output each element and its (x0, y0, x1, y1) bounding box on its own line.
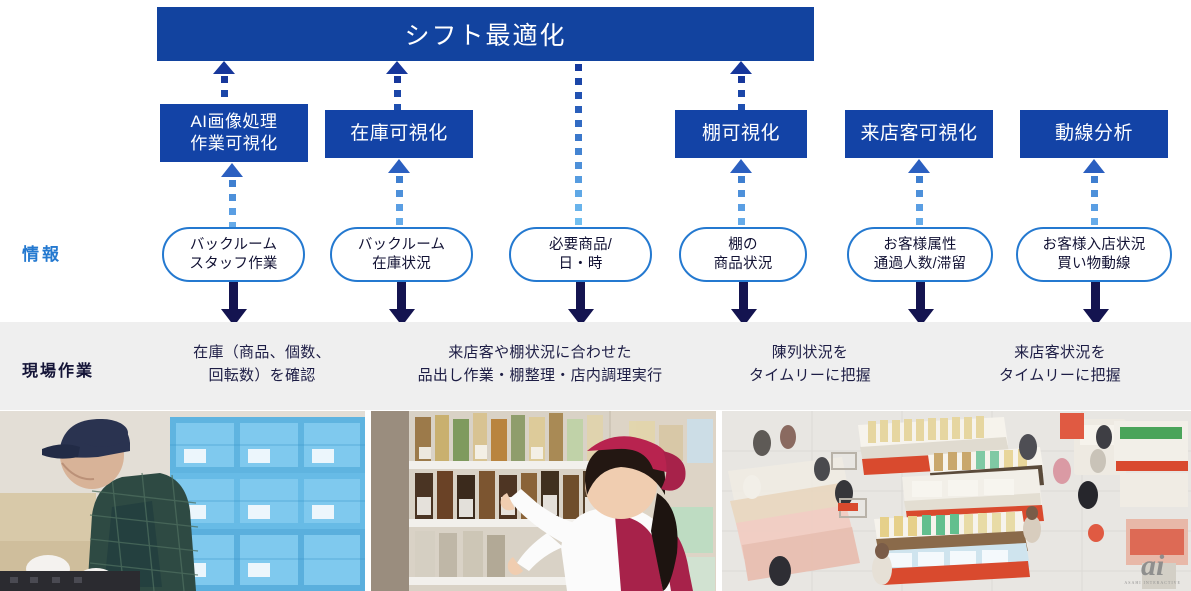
work-line1: 陳列状況を (772, 344, 849, 361)
photo-clerk-stocking (371, 411, 716, 591)
info-line2: 通過人数/滞留 (874, 256, 966, 272)
field-work-text-display-status: 陳列状況を タイムリーに把握 (710, 342, 910, 387)
photo-supermarket-overhead-graphic (722, 411, 1191, 591)
diagram-canvas: シフト最適化 AI画像処理 作業可視化 在庫可視化 棚可視化 来店客可視化 (0, 0, 1191, 591)
capability-label: AI画像処理 作業可視化 (190, 111, 278, 155)
work-line2: タイムリーに把握 (999, 367, 1121, 384)
info-line1: バックルーム (190, 237, 277, 253)
info-oval-required-products-day-time[interactable]: 必要商品/ 日・時 (509, 227, 652, 282)
info-line2: 日・時 (558, 256, 602, 272)
photo-supermarket-overhead: ai ASAHI INTERACTIVE (722, 411, 1191, 591)
capability-line2: 作業可視化 (190, 134, 278, 153)
title-text: シフト最適化 (404, 16, 566, 52)
info-line1: お客様入店状況 (1043, 237, 1146, 253)
capability-box-flowline-analysis[interactable]: 動線分析 (1020, 110, 1168, 158)
info-line1: バックルーム (358, 237, 445, 253)
watermark-sub: ASAHI INTERACTIVE (1124, 581, 1181, 585)
info-line2: スタッフ作業 (189, 256, 277, 272)
capability-label: 来店客可視化 (860, 122, 977, 146)
info-oval-label: バックルーム 在庫状況 (358, 236, 445, 272)
photo-backroom-staff (0, 411, 365, 591)
info-oval-label: お客様属性 通過人数/滞留 (874, 236, 966, 272)
photo-backroom-staff-graphic (0, 411, 365, 591)
work-line1: 来店客状況を (1014, 344, 1106, 361)
info-oval-customer-attributes[interactable]: お客様属性 通過人数/滞留 (847, 227, 993, 282)
work-line2: 回転数）を確認 (208, 367, 315, 384)
capability-label: 棚可視化 (702, 122, 780, 146)
capability-line1: AI画像処理 (190, 112, 277, 131)
field-work-text-restocking: 来店客や棚状況に合わせた 品出し作業・棚整理・店内調理実行 (374, 342, 706, 387)
capability-box-ai-image-processing[interactable]: AI画像処理 作業可視化 (160, 104, 308, 162)
row-label-field-work: 現場作業 (22, 357, 142, 381)
info-oval-label: 棚の 商品状況 (714, 236, 773, 272)
info-oval-label: 必要商品/ 日・時 (549, 236, 612, 272)
info-oval-shelf-product-status[interactable]: 棚の 商品状況 (679, 227, 807, 282)
info-oval-label: お客様入店状況 買い物動線 (1043, 236, 1146, 272)
field-work-text-customer-status: 来店客状況を タイムリーに把握 (960, 342, 1160, 387)
watermark-logo: ai ASAHI INTERACTIVE (1124, 551, 1181, 585)
info-line1: 棚の (728, 237, 757, 253)
capability-box-inventory-visualization[interactable]: 在庫可視化 (325, 110, 473, 158)
work-line1: 来店客や棚状況に合わせた (448, 344, 632, 361)
info-oval-backroom-staff-work[interactable]: バックルーム スタッフ作業 (162, 227, 305, 282)
info-oval-label: バックルーム スタッフ作業 (189, 236, 277, 272)
row-label-information: 情報 (22, 240, 132, 265)
info-line2: 商品状況 (714, 256, 773, 272)
info-line2: 買い物動線 (1057, 256, 1131, 272)
info-line1: 必要商品/ (549, 237, 612, 253)
info-oval-backroom-inventory-status[interactable]: バックルーム 在庫状況 (330, 227, 473, 282)
capability-label: 在庫可視化 (350, 122, 448, 146)
info-oval-customer-entry-shopping-flow[interactable]: お客様入店状況 買い物動線 (1016, 227, 1172, 282)
work-line2: 品出し作業・棚整理・店内調理実行 (418, 367, 663, 384)
capability-box-customer-visualization[interactable]: 来店客可視化 (845, 110, 993, 158)
info-line1: お客様属性 (883, 237, 957, 253)
photo-clerk-stocking-graphic (371, 411, 716, 591)
title-bar: シフト最適化 (157, 7, 814, 61)
capability-box-shelf-visualization[interactable]: 棚可視化 (675, 110, 807, 158)
info-line2: 在庫状況 (372, 256, 431, 272)
watermark-mark: ai (1141, 549, 1164, 582)
work-line2: タイムリーに把握 (749, 367, 871, 384)
capability-label: 動線分析 (1055, 122, 1133, 146)
work-line1: 在庫（商品、個数、 (193, 344, 331, 361)
photo-strip: ai ASAHI INTERACTIVE (0, 411, 1191, 591)
field-work-text-inventory-check: 在庫（商品、個数、 回転数）を確認 (152, 342, 372, 387)
